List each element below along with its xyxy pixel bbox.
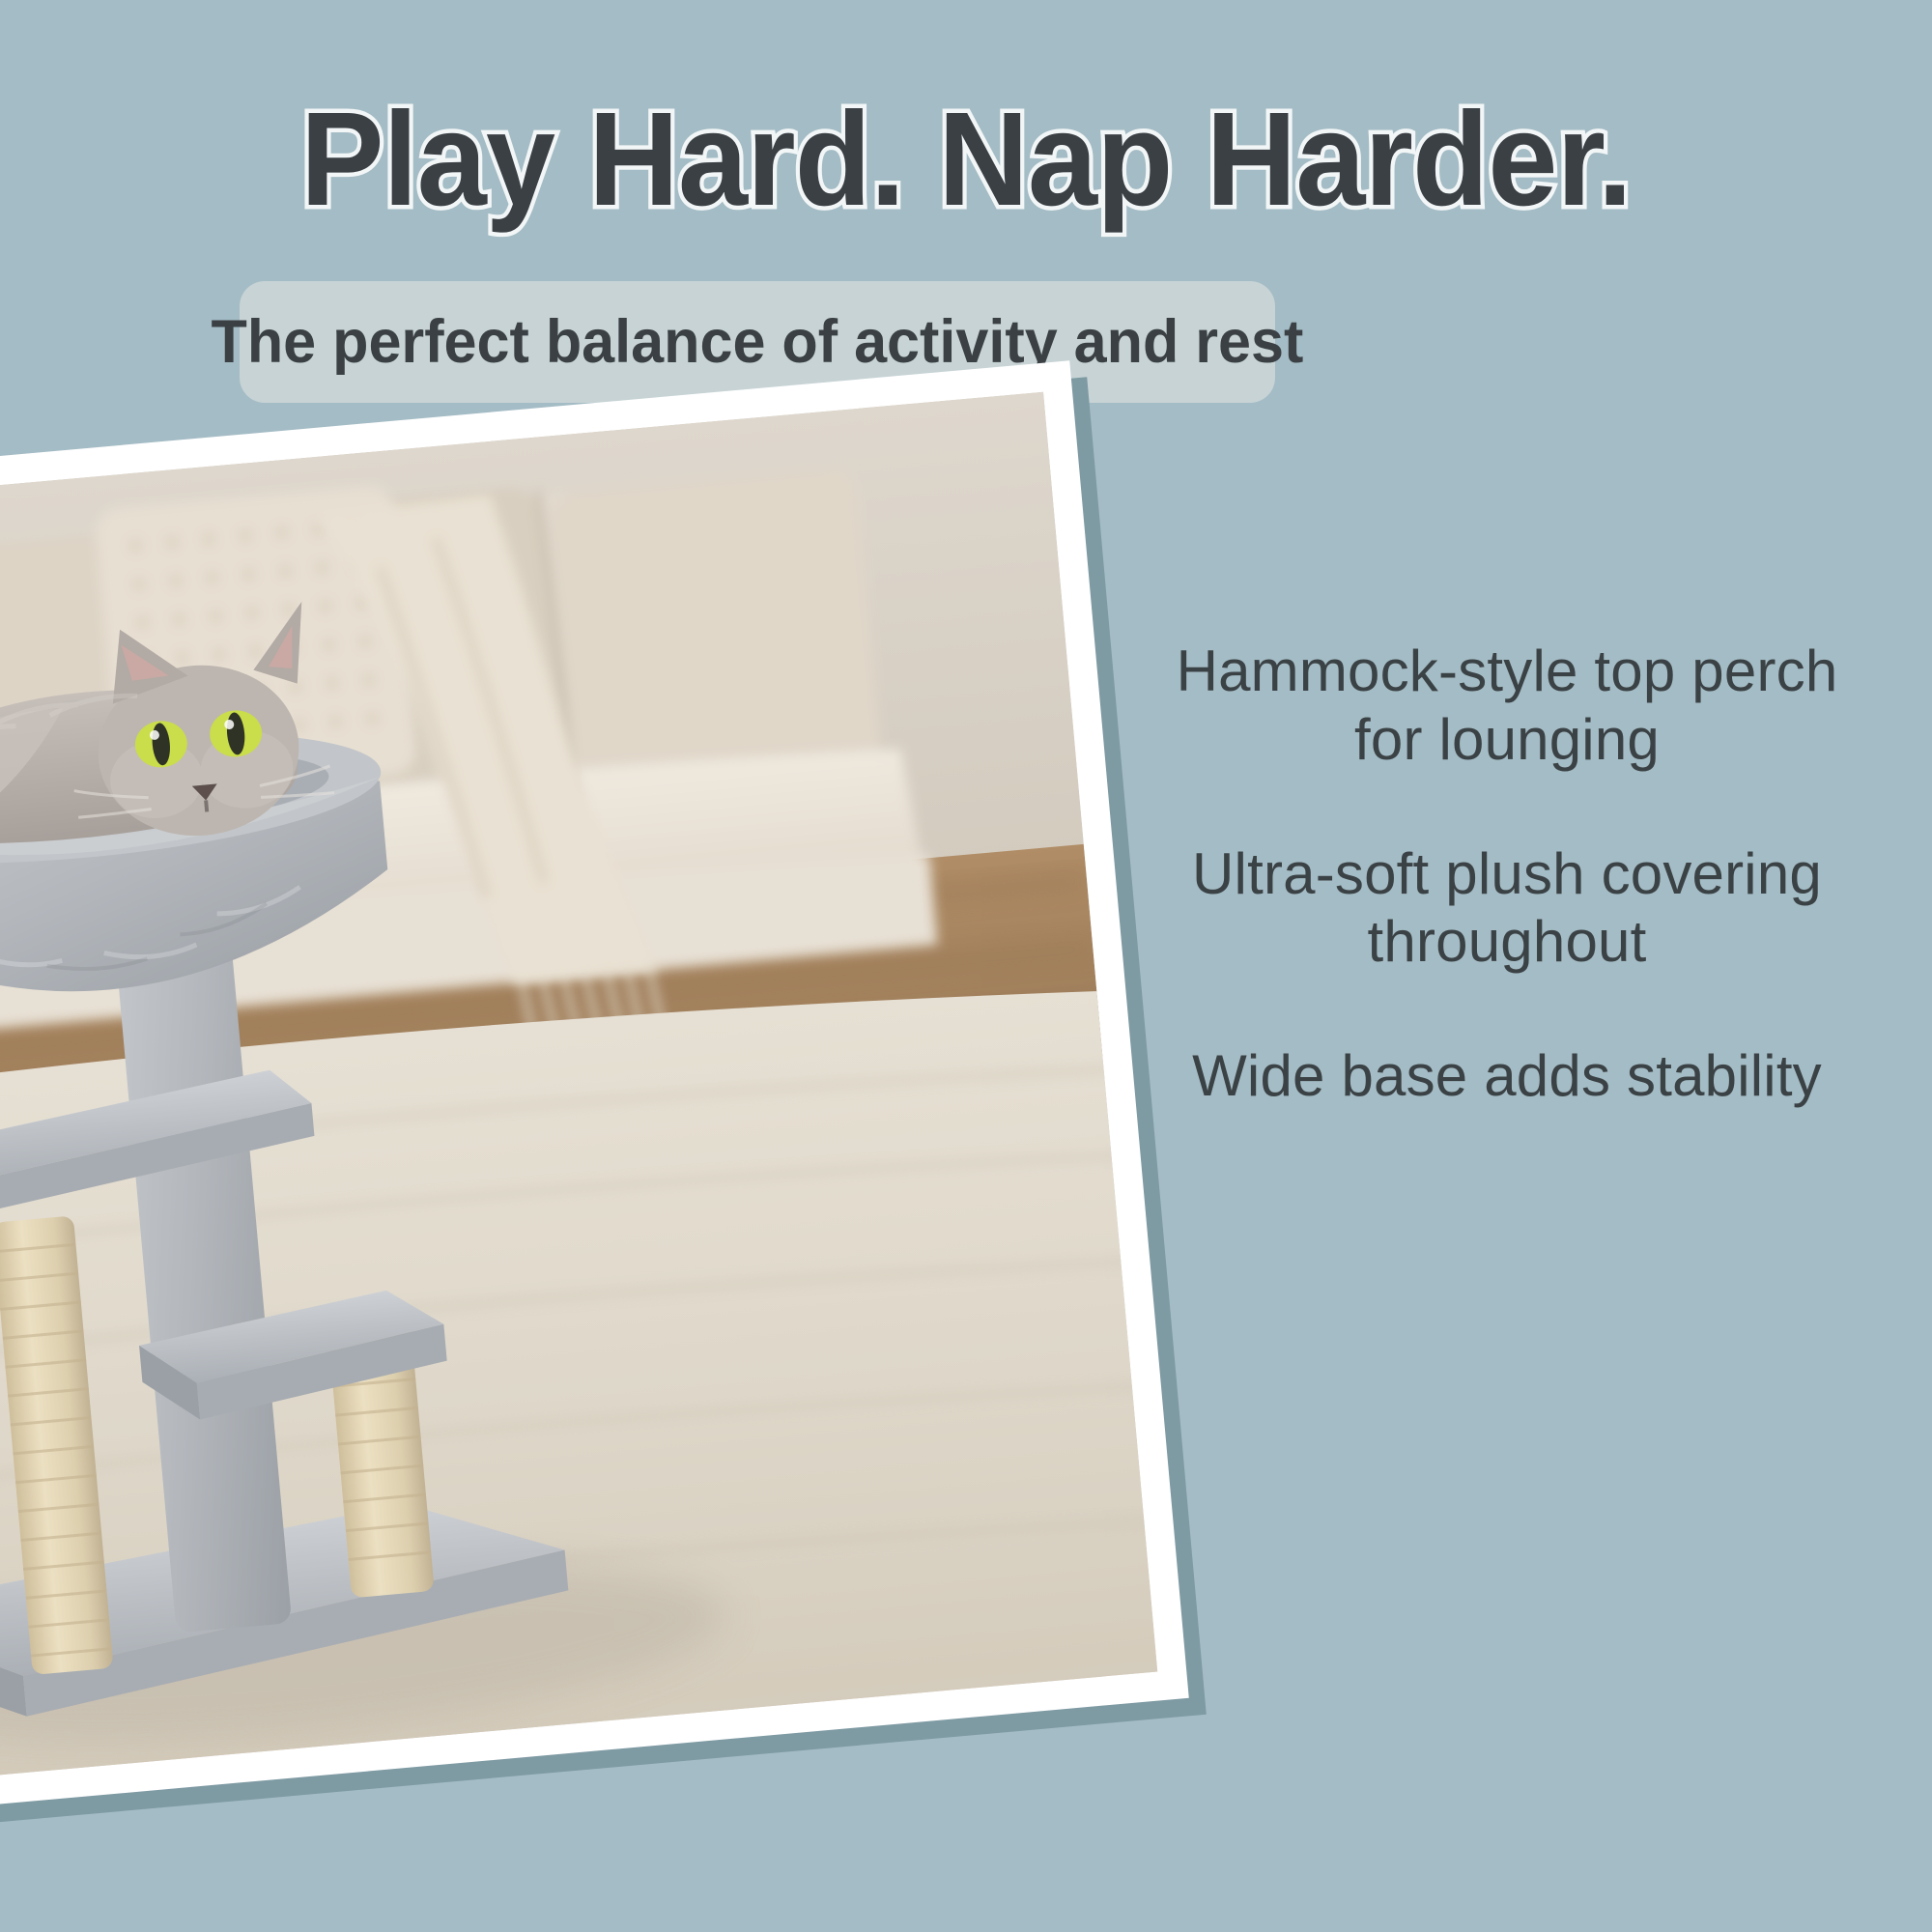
- page-title: Play Hard. Nap Harder.: [58, 93, 1874, 226]
- subtitle-pill: The perfect balance of activity and rest: [240, 281, 1275, 403]
- feature-item: Hammock-style top perch for lounging: [1140, 638, 1874, 775]
- poster-canvas: Play Hard. Nap Harder. The perfect balan…: [0, 0, 1932, 1932]
- product-photo-card: [0, 360, 1189, 1829]
- feature-item: Wide base adds stability: [1140, 1042, 1874, 1111]
- feature-list: Hammock-style top perch for lounging Ult…: [1140, 638, 1874, 1111]
- feature-item: Ultra-soft plush covering throughout: [1140, 840, 1874, 978]
- cat-tree-scene-illustration: [0, 392, 1157, 1798]
- subtitle-text: The perfect balance of activity and rest: [212, 307, 1304, 377]
- product-photo: [0, 392, 1157, 1798]
